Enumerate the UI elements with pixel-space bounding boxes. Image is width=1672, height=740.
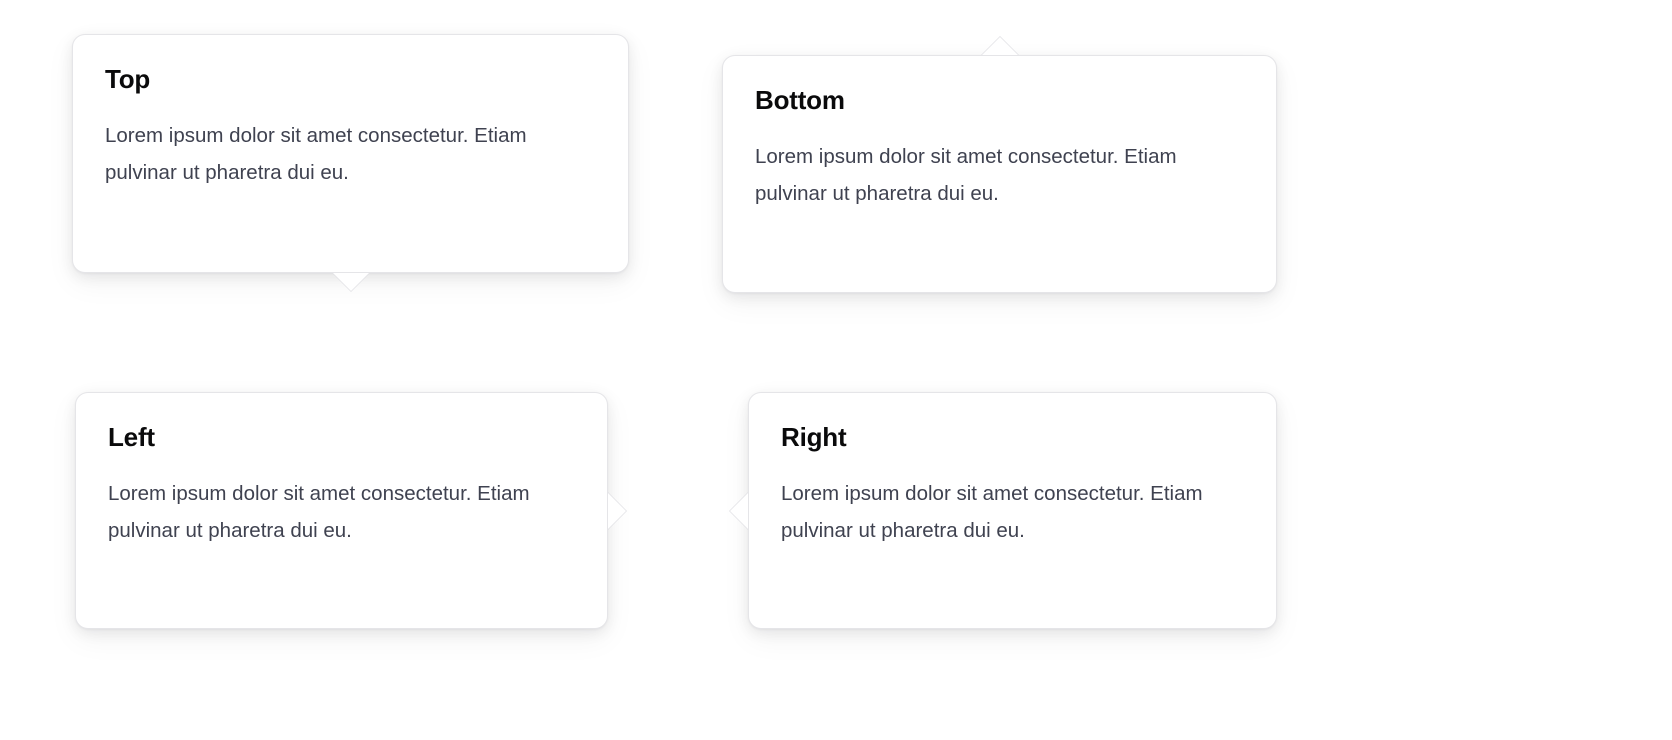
popover-right-body: Lorem ipsum dolor sit amet consectetur. …: [781, 475, 1244, 550]
popover-bottom-arrow-up-fill-icon: [982, 37, 1018, 55]
popover-right-arrow-left-fill-icon: [730, 493, 748, 529]
popover-bottom-title: Bottom: [755, 86, 1244, 116]
popover-left-body: Lorem ipsum dolor sit amet consectetur. …: [108, 475, 575, 550]
popover-bottom-body: Lorem ipsum dolor sit amet consectetur. …: [755, 138, 1244, 213]
popover-left-title: Left: [108, 423, 575, 453]
popover-left-arrow-right-fill-icon: [608, 493, 626, 529]
popover-right-title: Right: [781, 423, 1244, 453]
popover-right[interactable]: Right Lorem ipsum dolor sit amet consect…: [748, 392, 1277, 629]
popover-top-body: Lorem ipsum dolor sit amet consectetur. …: [105, 117, 596, 192]
popover-left[interactable]: Left Lorem ipsum dolor sit amet consecte…: [75, 392, 608, 629]
popover-top[interactable]: Top Lorem ipsum dolor sit amet consectet…: [72, 34, 629, 273]
popover-top-title: Top: [105, 65, 596, 95]
popover-bottom[interactable]: Bottom Lorem ipsum dolor sit amet consec…: [722, 55, 1277, 293]
popover-top-arrow-down-fill-icon: [333, 273, 369, 291]
popover-showcase-stage: Top Lorem ipsum dolor sit amet consectet…: [0, 0, 1672, 740]
